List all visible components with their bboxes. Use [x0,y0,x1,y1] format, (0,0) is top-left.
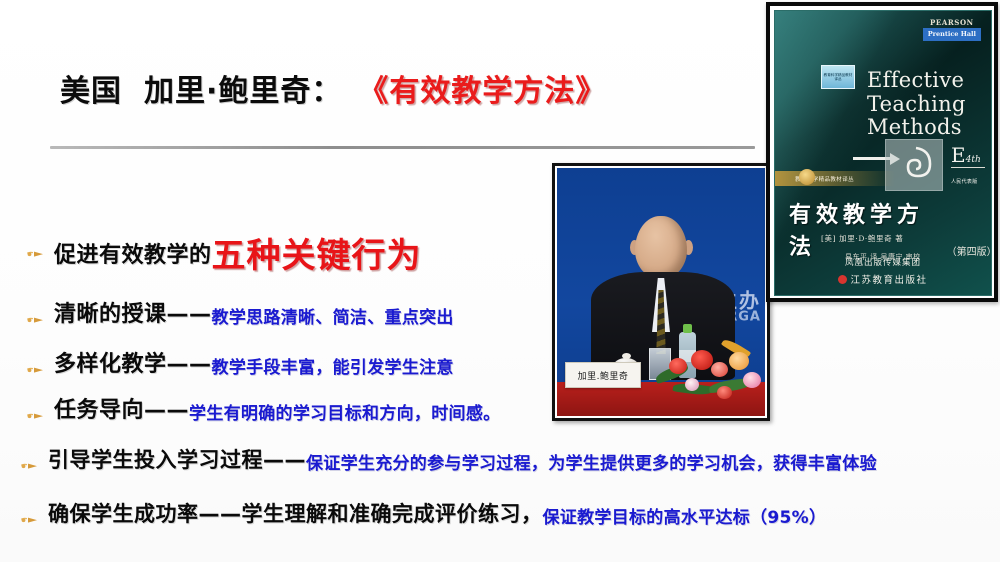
edition-badge: E4th 人民代表版 [951,145,985,186]
list-item-detail-blue: 教学手段丰富，能引发学生注意 [212,353,454,378]
series-sticker: 教育科学精品教材译丛 [821,65,855,89]
list-item: 清晰的授课—— 教学思路清晰、简洁、重点突出 [24,296,454,328]
list-item-detail-blue: 保证教学目标的高水平达标（95%） [543,503,827,528]
pointing-hand-icon [24,245,46,263]
nameplate: 加里.鲍里奇 [565,362,641,388]
list-item: 多样化教学—— 教学手段丰富，能引发学生注意 [24,346,454,378]
list-item-text: 促进有效教学的 [54,237,212,269]
publisher-group: 凤凰出版传媒集团 [775,256,991,268]
list-item-detail-blue: 保证学生充分的参与学习过程，为学生提供更多的学习机会，获得丰富体验 [306,449,877,474]
pointing-hand-icon [24,311,46,329]
book-cover-image: PEARSON Prentice Hall 教育科学精品教材译丛 Effecti… [766,2,998,302]
series-ribbon: 教育科学精品教材译丛 [775,171,895,186]
list-item-text: 多样化教学—— [54,346,212,378]
nameplate-text: 加里.鲍里奇 [578,369,629,382]
conference-photo: 主办 ORGA [552,163,770,421]
list-item: 引导学生投入学习过程—— 保证学生充分的参与学习过程，为学生提供更多的学习机会，… [18,444,877,474]
edition-badge-sup: 4th [966,155,981,165]
pointing-hand-icon [24,361,46,379]
edition-badge-letter: E [951,145,966,165]
list-item-detail-blue: 教学思路清晰、简洁、重点突出 [212,303,454,328]
photo-content: 主办 ORGA [557,168,765,416]
ribbon-seal-icon [799,169,815,185]
pointing-hand-icon [18,457,40,475]
slide-canvas: 美国 加里·鲍里奇： 《有效教学方法》 促进有效教学的 五种关键行为 [0,0,1000,562]
list-item-text: 确保学生成功率——学生理解和准确完成评价练习， [48,498,543,528]
book-publisher: 凤凰出版传媒集团 江苏教育出版社 [775,256,991,287]
list-item: 确保学生成功率——学生理解和准确完成评价练习， 保证教学目标的高水平达标（95%… [18,498,826,528]
list-item: 任务导向—— 学生有明确的学习目标和方向，时间感。 [24,392,500,424]
book-title-english: Effective Teaching Methods [867,69,992,140]
list-item-text: 任务导向—— [54,392,189,424]
flower-arrangement [651,328,765,402]
list-item-text: 引导学生投入学习过程—— [48,444,306,474]
publisher-house: 江苏教育出版社 [850,272,927,286]
list-item-emphasis-red: 五种关键行为 [212,228,422,277]
book-author: [美] 加里·D·鲍里奇 著 [821,233,903,244]
prentice-hall-badge: Prentice Hall [923,28,981,41]
list-item: 促进有效教学的 五种关键行为 [24,228,422,277]
pointing-hand-icon [18,511,40,529]
list-item-detail-blue: 学生有明确的学习目标和方向，时间感。 [189,399,500,424]
edition-badge-rule [951,167,985,168]
person-head [635,216,687,278]
list-item-text: 清晰的授课—— [54,296,212,328]
book-cover-content: PEARSON Prentice Hall 教育科学精品教材译丛 Effecti… [774,10,992,296]
pointing-hand-icon [24,407,46,425]
pearson-logo: PEARSON Prentice Hall [923,19,981,41]
pearson-wordmark: PEARSON [923,19,981,26]
edition-badge-note: 人民代表版 [951,179,978,185]
publisher-mark-icon [838,275,847,284]
